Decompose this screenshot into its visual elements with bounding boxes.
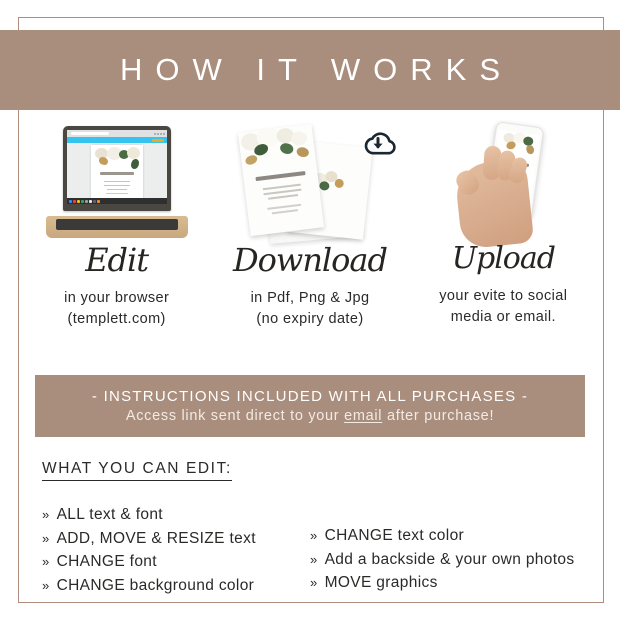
step-upload: Upload your evite to social media or ema… — [407, 118, 600, 353]
email-link[interactable]: email — [344, 408, 382, 424]
floral-leaf-icon — [526, 145, 535, 155]
step-caption-line2: (no expiry date) — [251, 309, 370, 330]
thumb — [453, 167, 482, 198]
floral-leaf-icon — [319, 181, 330, 191]
bullet-marker-icon: » — [42, 529, 50, 549]
bullet-marker-icon: » — [42, 576, 50, 596]
instructions-headline: - INSTRUCTIONS INCLUDED WITH ALL PURCHAS… — [92, 388, 528, 405]
list-item: » ADD, MOVE & RESIZE text — [42, 527, 310, 551]
edit-features-left-column: » ALL text & font » ADD, MOVE & RESIZE t… — [42, 503, 310, 597]
bullet-marker-icon: » — [42, 505, 50, 525]
floral-blossom-icon — [127, 147, 140, 159]
invitation-cards-illustration — [226, 122, 394, 244]
invitation-text-line — [107, 189, 127, 190]
steps-row: Edit in your browser (templett.com) — [20, 118, 600, 353]
step-script-label: Download — [233, 244, 387, 276]
page-title: HOW IT WORKS — [107, 52, 513, 88]
invitation-text-line — [268, 194, 298, 199]
laptop-browser-image — [20, 118, 213, 246]
step-script-label: Edit — [85, 244, 148, 276]
floral-leaf-icon — [131, 159, 139, 169]
step-caption-line2: (templett.com) — [64, 309, 169, 330]
floral-leaf-icon — [296, 146, 309, 157]
floral-leaf-icon — [280, 142, 294, 155]
instructions-subline-after: after purchase! — [382, 408, 494, 424]
floral-leaf-icon — [99, 157, 108, 165]
list-item: » ALL text & font — [42, 503, 310, 527]
invitation-name-line — [100, 172, 134, 175]
instructions-subline-before: Access link sent direct to your — [126, 408, 344, 424]
invitation-text-line — [104, 181, 130, 182]
list-item: » MOVE graphics — [310, 571, 574, 595]
floral-blossom-icon — [290, 131, 308, 147]
list-item-label: CHANGE font — [57, 550, 157, 574]
invitation-text-line — [272, 209, 298, 214]
laptop-illustration — [46, 126, 188, 238]
invitation-canvas — [91, 145, 143, 200]
list-item-label: ADD, MOVE & RESIZE text — [57, 527, 256, 551]
header-banner: HOW IT WORKS — [0, 30, 620, 110]
list-item-label: ALL text & font — [57, 503, 163, 527]
laptop-keyboard — [56, 219, 178, 230]
laptop-screen — [67, 130, 167, 204]
bullet-marker-icon: » — [310, 550, 318, 570]
list-item: » CHANGE text color — [310, 524, 574, 548]
invitation-card-front — [238, 124, 324, 236]
list-item-label: Add a backside & your own photos — [325, 548, 575, 572]
browser-window-controls — [154, 133, 165, 135]
step-caption: in Pdf, Png & Jpg (no expiry date) — [251, 288, 370, 329]
app-toolbar — [67, 137, 167, 143]
invitation-text-line — [106, 193, 128, 194]
step-download: Download in Pdf, Png & Jpg (no expiry da… — [213, 118, 406, 353]
bullet-marker-icon: » — [310, 526, 318, 546]
edit-section-heading: WHAT YOU CAN EDIT: — [42, 460, 232, 481]
floral-leaf-icon — [506, 141, 516, 150]
step-script-label: Upload — [452, 244, 555, 274]
floral-leaf-icon — [254, 143, 269, 156]
bullet-marker-icon: » — [310, 573, 318, 593]
list-item: » Add a backside & your own photos — [310, 548, 574, 572]
step-caption-line1: your evite to social — [439, 286, 567, 307]
step-caption-line2: media or email. — [439, 307, 567, 328]
cloud-download-icon — [358, 130, 398, 160]
instructions-banner: - INSTRUCTIONS INCLUDED WITH ALL PURCHAS… — [35, 375, 585, 437]
invitation-cards-image — [213, 118, 406, 246]
step-caption-line1: in Pdf, Png & Jpg — [251, 288, 370, 309]
list-item-label: CHANGE text color — [325, 524, 464, 548]
hand-phone-illustration — [428, 118, 578, 246]
laptop-lid — [63, 126, 171, 211]
instructions-subline: Access link sent direct to your email af… — [126, 408, 494, 424]
hand-illustration — [454, 158, 534, 249]
laptop-trackpad — [100, 232, 134, 236]
step-caption-line1: in your browser — [64, 288, 169, 309]
how-it-works-infographic: HOW IT WORKS — [0, 0, 620, 620]
invitation-name-line — [255, 171, 305, 181]
invitation-text-line — [104, 185, 130, 186]
step-caption: in your browser (templett.com) — [64, 288, 169, 329]
dock-taskbar — [67, 198, 167, 204]
edit-features-section: WHAT YOU CAN EDIT: » ALL text & font » A… — [42, 460, 582, 597]
edit-features-columns: » ALL text & font » ADD, MOVE & RESIZE t… — [42, 503, 582, 597]
step-edit: Edit in your browser (templett.com) — [20, 118, 213, 353]
floral-leaf-icon — [245, 155, 258, 165]
laptop-base — [46, 216, 188, 238]
browser-url-bar — [71, 132, 109, 135]
browser-chrome-bar — [67, 130, 167, 137]
hand-phone-image — [407, 118, 600, 246]
list-item: » CHANGE background color — [42, 574, 310, 598]
bullet-marker-icon: » — [42, 552, 50, 572]
list-item-label: MOVE graphics — [325, 571, 438, 595]
floral-leaf-icon — [334, 178, 344, 188]
list-item-label: CHANGE background color — [57, 574, 255, 598]
edit-features-right-column: » CHANGE text color » Add a backside & y… — [310, 503, 574, 597]
step-caption: your evite to social media or email. — [439, 286, 567, 327]
list-item: » CHANGE font — [42, 550, 310, 574]
